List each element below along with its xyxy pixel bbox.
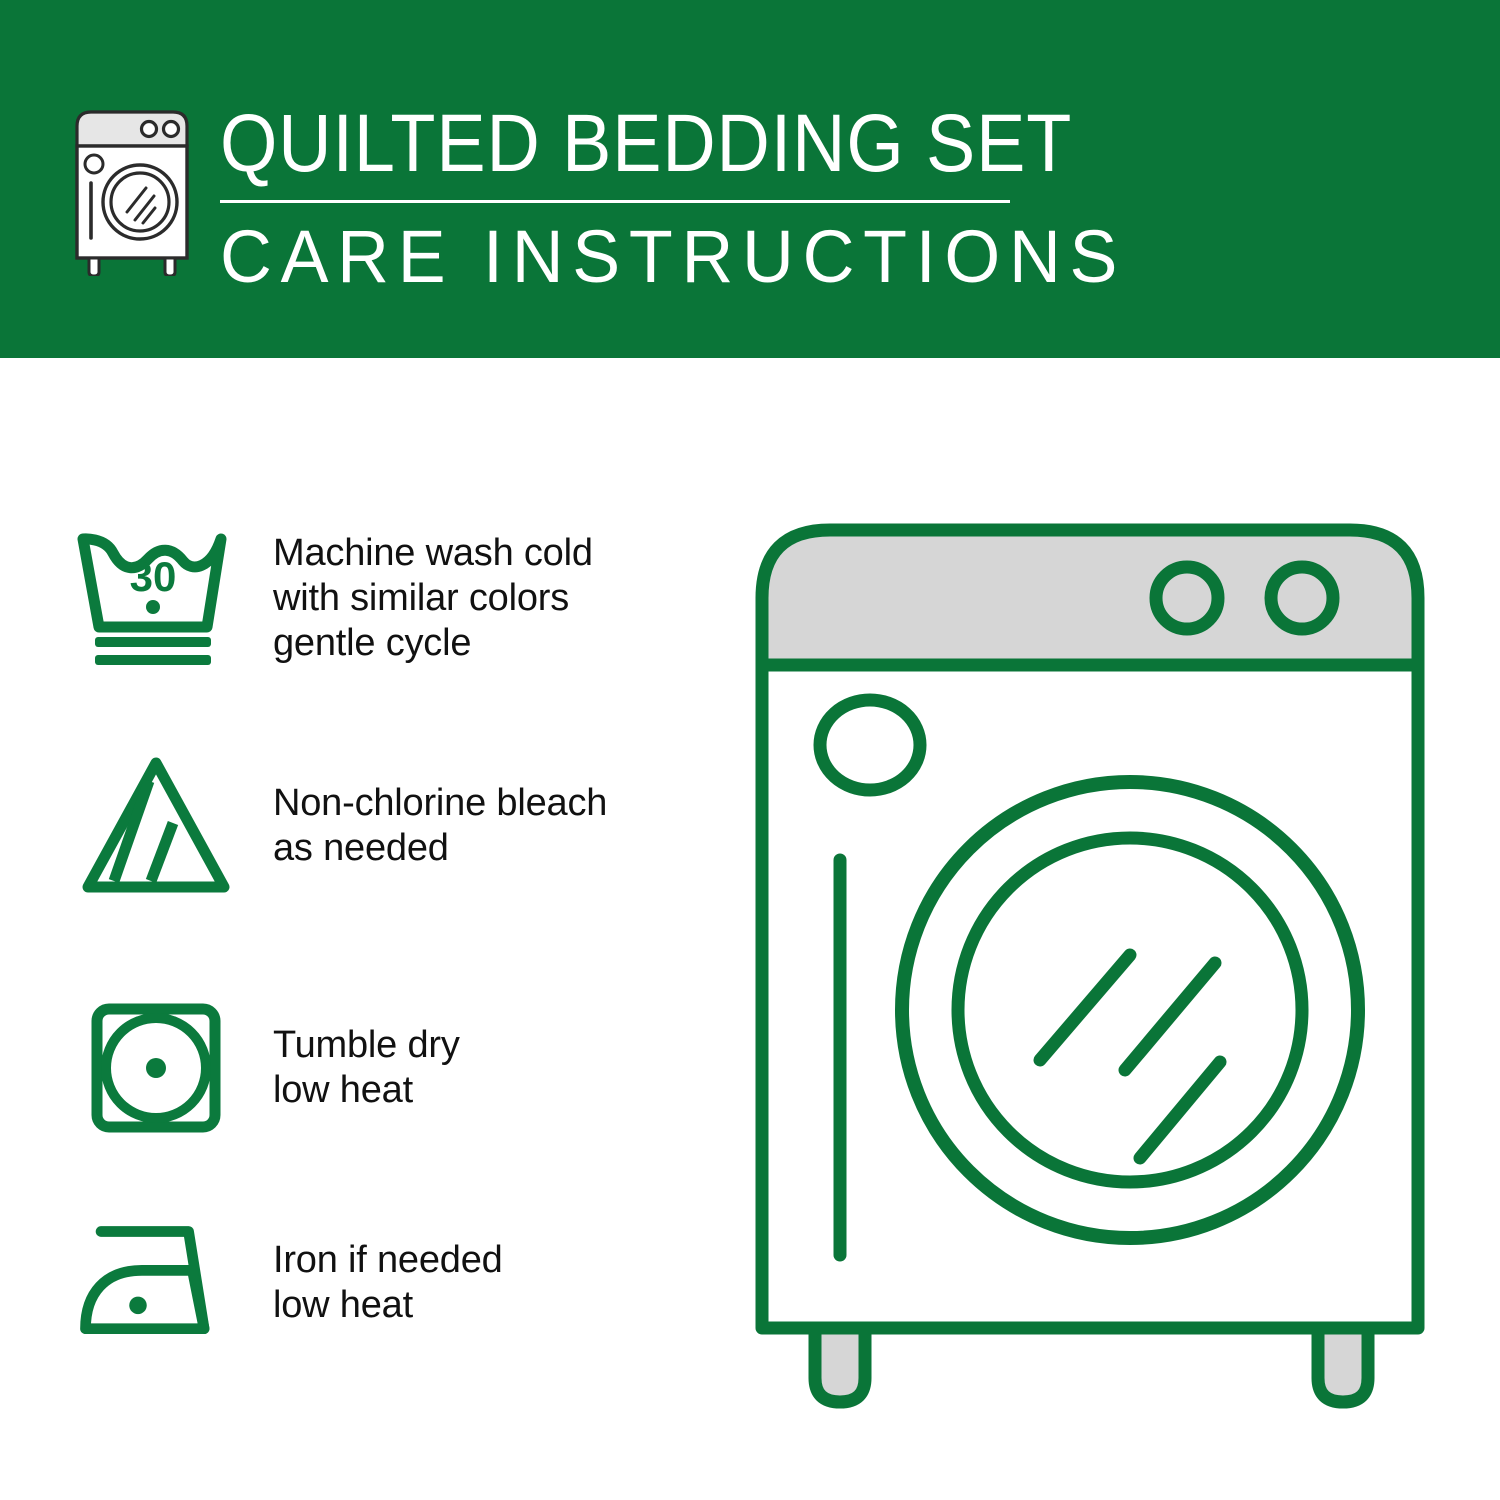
front-load-washing-machine-illustration xyxy=(740,490,1440,1410)
title-divider xyxy=(220,200,1010,203)
care-item-tumble-dry: Tumble dry low heat xyxy=(0,988,720,1148)
care-instructions-page: QUILTED BEDDING SET CARE INSTRUCTIONS 30 xyxy=(0,0,1500,1500)
care-item-label: Tumble dry low heat xyxy=(273,1023,460,1113)
care-item-iron: Iron if needed low heat xyxy=(0,1203,720,1363)
header-text-block: QUILTED BEDDING SET CARE INSTRUCTIONS xyxy=(220,100,1020,297)
care-item-label: Machine wash cold with similar colors ge… xyxy=(273,531,593,666)
tumble-dry-low-icon xyxy=(68,988,243,1148)
svg-text:30: 30 xyxy=(129,553,176,600)
page-header: QUILTED BEDDING SET CARE INSTRUCTIONS xyxy=(0,0,1500,358)
machine-wash-30-icon: 30 xyxy=(68,518,243,678)
care-item-label: Iron if needed low heat xyxy=(273,1238,503,1328)
care-symbol-list: 30 Machine wash cold with similar colors… xyxy=(0,358,720,1500)
care-item-bleach: Non-chlorine bleach as needed xyxy=(0,746,720,906)
care-item-machine-wash: 30 Machine wash cold with similar colors… xyxy=(0,518,720,678)
page-subtitle: CARE INSTRUCTIONS xyxy=(220,217,996,297)
iron-low-heat-icon xyxy=(68,1203,243,1363)
washing-machine-icon xyxy=(63,104,213,276)
care-item-label: Non-chlorine bleach as needed xyxy=(273,781,607,871)
page-title: QUILTED BEDDING SET xyxy=(220,100,940,188)
non-chlorine-bleach-icon xyxy=(68,746,243,906)
